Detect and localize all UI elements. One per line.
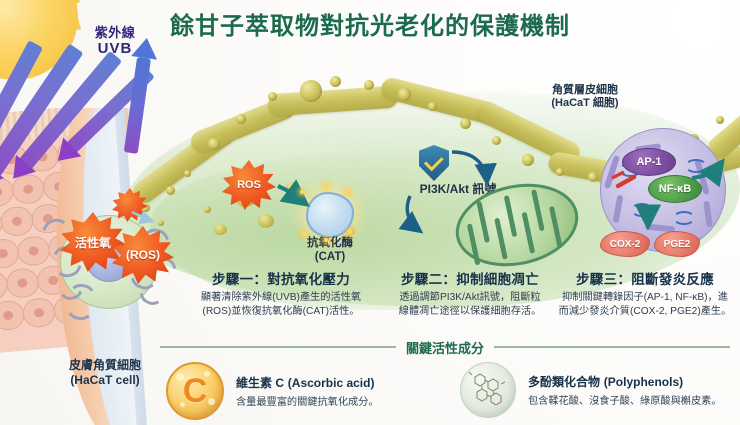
extract-droplet [300, 80, 322, 102]
divider-line-right [494, 346, 730, 348]
vitamin-c-letter: C [183, 374, 208, 408]
sparkle [348, 230, 352, 234]
crista [522, 212, 536, 254]
step-3-body-line2: 而減少發炎介質(COX-2, PGE2)產生。 [552, 305, 738, 319]
vitamin-c-name: 維生素 C (Ascorbic acid) [236, 374, 379, 391]
sparkle [302, 232, 306, 236]
dna-strand-icon [685, 159, 707, 173]
vitamin-c-text: 維生素 C (Ascorbic acid) 含量最豐富的關鍵抗氧化成分。 [236, 374, 379, 408]
cox2-badge: COX-2 [600, 231, 650, 257]
sparkle [346, 190, 350, 194]
steps-row: 步驟一：對抗氧化壓力 顯著清除紫外線(UVB)產生的活性氧 (ROS)並恢復抗氧… [0, 268, 740, 328]
step-2-body-line1: 透過調節PI3K/Akt訊號，阻斷粒 [375, 291, 565, 305]
extract-droplet [522, 154, 534, 166]
step-3-heading: 步驟三：阻斷發炎反應 [552, 268, 738, 288]
extract-droplet [204, 206, 211, 213]
dna-strand-icon [631, 203, 653, 217]
crista [494, 218, 508, 260]
step-2-heading: 步驟二：抑制細胞凋亡 [375, 268, 565, 288]
crista [504, 195, 518, 237]
extract-droplet [158, 220, 164, 226]
vitamin-c-icon: C [166, 362, 224, 420]
polyphenols-text: 多酚類化合物 (Polyphenols) 包含鞣花酸、沒食子酸、綠原酸與槲皮素。 [528, 373, 722, 407]
sparkle [324, 184, 328, 188]
extract-droplet [364, 80, 374, 90]
step-3-body-line1: 抑制關鍵轉錄因子(AP-1, NF-κB)，進 [552, 291, 738, 305]
extract-droplet [556, 168, 564, 176]
keratinocyte-cell [0, 205, 34, 237]
crista [549, 206, 563, 248]
polyphenol-molecule-icon [460, 362, 516, 418]
divider-title: 關鍵活性成分 [406, 338, 484, 357]
extract-droplet [268, 92, 277, 101]
crista [476, 201, 490, 243]
step-2: 步驟二：抑制細胞凋亡 透過調節PI3K/Akt訊號，阻斷粒 線體凋亡途徑以保護細… [375, 268, 565, 319]
extract-blob [286, 182, 300, 194]
step-1-heading: 步驟一：對抗氧化壓力 [176, 268, 386, 288]
extract-band [267, 85, 398, 116]
extract-droplet [716, 116, 724, 124]
ap1-badge: AP-1 [622, 148, 676, 176]
dna-strand-icon [673, 211, 695, 225]
pge2-badge: PGE2 [654, 231, 700, 257]
step-1: 步驟一：對抗氧化壓力 顯著清除紫外線(UVB)產生的活性氧 (ROS)並恢復抗氧… [176, 268, 386, 319]
ingredient-polyphenols: 多酚類化合物 (Polyphenols) 包含鞣花酸、沒食子酸、綠原酸與槲皮素。 [460, 362, 722, 418]
step-1-body-line2: (ROS)並恢復抗氧化酶(CAT)活性。 [176, 305, 386, 319]
extract-blob [214, 224, 227, 235]
ingredient-vitamin-c: C 維生素 C (Ascorbic acid) 含量最豐富的關鍵抗氧化成分。 [166, 362, 379, 420]
right-cell-label: 角質層皮細胞 (HaCaT 細胞) [520, 84, 650, 111]
extract-blob [258, 214, 274, 228]
extract-droplet [398, 88, 411, 101]
extract-droplet [492, 136, 501, 145]
nuclear-membrane-arc [604, 155, 620, 189]
extract-droplet [184, 170, 191, 177]
polyphenols-name: 多酚類化合物 (Polyphenols) [528, 373, 722, 390]
infographic-canvas: 紫外線 UVB 活性氧 (ROS) ROS 抗氧化酶 (CAT) PI3K/Ak… [0, 0, 740, 425]
vitamin-c-desc: 含量最豐富的關鍵抗氧化成分。 [236, 393, 379, 408]
page-title: 餘甘子萃取物對抗光老化的保護機制 [0, 6, 740, 41]
extract-droplet [428, 102, 437, 111]
step-2-body-line2: 線體凋亡途徑以保護細胞存活。 [375, 305, 565, 319]
step-3: 步驟三：阻斷發炎反應 抑制關鍵轉錄因子(AP-1, NF-κB)，進 而減少發炎… [552, 268, 738, 319]
sparkle [324, 238, 328, 242]
extract-droplet [236, 114, 246, 124]
key-ingredients-divider: 關鍵活性成分 [160, 338, 730, 356]
nuclear-membrane-arc [613, 195, 624, 224]
step-1-body-line1: 顯著清除紫外線(UVB)產生的活性氧 [176, 291, 386, 305]
extract-droplet [208, 138, 220, 150]
sparkle [300, 190, 304, 194]
extract-droplet [460, 118, 471, 129]
left-cell-label: 皮膚角質細胞 (HaCaT cell) [30, 358, 180, 387]
nfkb-badge: NF-κB [648, 175, 702, 203]
cat-label: 抗氧化酶 (CAT) [262, 236, 398, 264]
extract-droplet [330, 76, 341, 87]
extract-droplet [588, 172, 598, 182]
divider-line-left [160, 346, 396, 348]
crista [531, 189, 545, 231]
nuclear-membrane-arc [703, 201, 713, 228]
molecule-structure-icon [461, 363, 515, 417]
polyphenols-desc: 包含鞣花酸、沒食子酸、綠原酸與槲皮素。 [528, 392, 722, 407]
extract-droplet [166, 186, 175, 195]
